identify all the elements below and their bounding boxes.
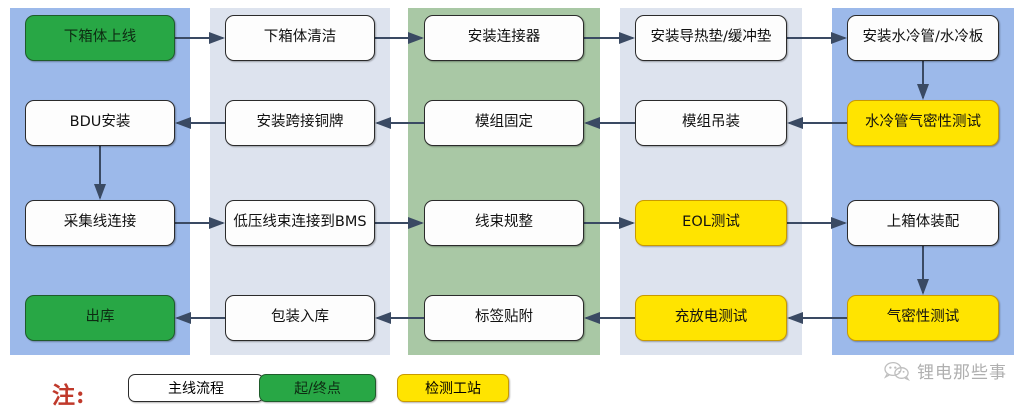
node-xianshu-guizheng[interactable]: 线束规整	[424, 200, 584, 246]
legend-item-test-station: 检测工站	[397, 374, 509, 402]
node-caijixian-lianjie[interactable]: 采集线连接	[25, 200, 175, 246]
node-anzhuang-lianjieqi[interactable]: 安装连接器	[424, 15, 584, 61]
node-diya-xianshu-bms[interactable]: 低压线束连接到BMS	[225, 200, 375, 246]
node-qimixing-ceshi[interactable]: 气密性测试	[847, 295, 999, 341]
node-biaoqian-tiefu[interactable]: 标签贴附	[424, 295, 584, 341]
node-shuilengguan-qimixing-ceshi[interactable]: 水冷管气密性测试	[847, 100, 999, 146]
node-anzhuang-shuilengguan[interactable]: 安装水冷管/水冷板	[847, 15, 999, 61]
watermark: 锂电那些事	[884, 358, 1007, 383]
node-mozu-guding[interactable]: 模组固定	[424, 100, 584, 146]
node-xiaxiangti-qingjie[interactable]: 下箱体清洁	[225, 15, 375, 61]
node-chongfangdian-ceshi[interactable]: 充放电测试	[635, 295, 787, 341]
node-anzhuang-kuajie-tongpai[interactable]: 安装跨接铜牌	[225, 100, 375, 146]
node-anzhuang-daorepad[interactable]: 安装导热垫/缓冲垫	[635, 15, 787, 61]
wechat-icon	[884, 361, 910, 381]
legend-note-label: 注:	[52, 376, 86, 410]
node-chuku[interactable]: 出库	[25, 295, 175, 341]
node-baozhuang-ruku[interactable]: 包装入库	[225, 295, 375, 341]
legend: 注: 主线流程 起/终点 检测工站	[0, 360, 1023, 420]
node-xiaxiangti-shangxian[interactable]: 下箱体上线	[25, 15, 175, 61]
process-flowchart: 下箱体上线 下箱体清洁 安装连接器 安装导热垫/缓冲垫 安装水冷管/水冷板 BD…	[0, 0, 1023, 420]
node-mozu-diaozhuang[interactable]: 模组吊装	[635, 100, 787, 146]
node-bdu-anzhuang[interactable]: BDU安装	[25, 100, 175, 146]
legend-item-main-flow: 主线流程	[128, 374, 264, 402]
node-shangxiangti-zhuangpei[interactable]: 上箱体装配	[847, 200, 999, 246]
watermark-text: 锂电那些事	[917, 358, 1007, 383]
node-eol-ceshi[interactable]: EOL测试	[635, 200, 787, 246]
legend-item-endpoint: 起/终点	[259, 374, 376, 402]
